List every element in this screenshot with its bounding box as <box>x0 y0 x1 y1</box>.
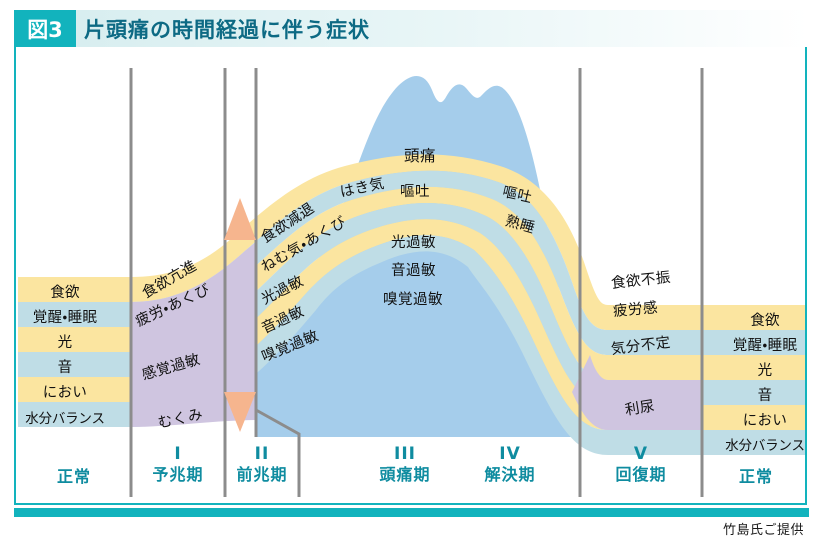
phase-name-4: 解決期 <box>465 464 555 486</box>
normal-left-band-0: 食欲 <box>6 281 124 302</box>
phase-label-recovery: V 回復期 <box>596 445 686 486</box>
phase-label-prodrome: I 予兆期 <box>132 445 224 486</box>
phase-roman-1: I <box>132 445 224 464</box>
normal-left-band-3: 音 <box>6 356 124 377</box>
headache-label-pain: 頭痛 <box>404 144 436 166</box>
normal-left-band-5: 水分バランス <box>6 407 124 427</box>
normal-left-band-2: 光 <box>6 331 124 352</box>
phase-name-1: 予兆期 <box>132 464 224 486</box>
footer-bar <box>14 508 809 517</box>
credit-text: 竹島氏ご提供 <box>723 519 804 538</box>
normal-right-band-0: 食欲 <box>706 309 822 330</box>
phase-label-normal-left: 正常 <box>18 445 130 488</box>
phase-name-0: 正常 <box>18 466 130 488</box>
recovery-label-1: 疲労感 <box>612 296 659 321</box>
figure-number-badge: 図3 <box>14 10 76 47</box>
phase-label-resolution: IV 解決期 <box>465 445 555 486</box>
phase-roman-2: II <box>226 445 298 464</box>
normal-left-band-1: 覚醒・睡眠 <box>6 306 124 327</box>
headache-label-photophobia: 光過敏 <box>391 231 436 252</box>
headache-label-osmophobia: 嗅覚過敏 <box>383 288 443 309</box>
phase-roman-5: V <box>596 445 686 464</box>
phase-label-headache: III 頭痛期 <box>360 445 450 486</box>
normal-right-band-1: 覚醒・睡眠 <box>706 334 822 355</box>
headache-label-phonophobia: 音過敏 <box>391 259 436 280</box>
normal-left-band-4: におい <box>6 381 124 402</box>
page-title: 片頭痛の時間経過に伴う症状 <box>84 10 370 47</box>
phase-name-2: 前兆期 <box>226 464 298 486</box>
normal-right-band-2: 光 <box>706 359 822 380</box>
phase-name-5: 回復期 <box>596 464 686 486</box>
phase-roman-4: IV <box>465 445 555 464</box>
headache-label-vomit: 嘔吐 <box>400 180 430 201</box>
phase-label-aura: II 前兆期 <box>226 445 298 486</box>
normal-right-band-3: 音 <box>706 384 822 405</box>
figure-root: 図3 片頭痛の時間経過に伴う症状 <box>0 0 822 545</box>
normal-right-band-4: におい <box>706 409 822 430</box>
phase-name-6: 正常 <box>706 466 806 488</box>
phase-label-normal-right: 正常 <box>706 445 806 488</box>
phase-roman-3: III <box>360 445 450 464</box>
phase-name-3: 頭痛期 <box>360 464 450 486</box>
